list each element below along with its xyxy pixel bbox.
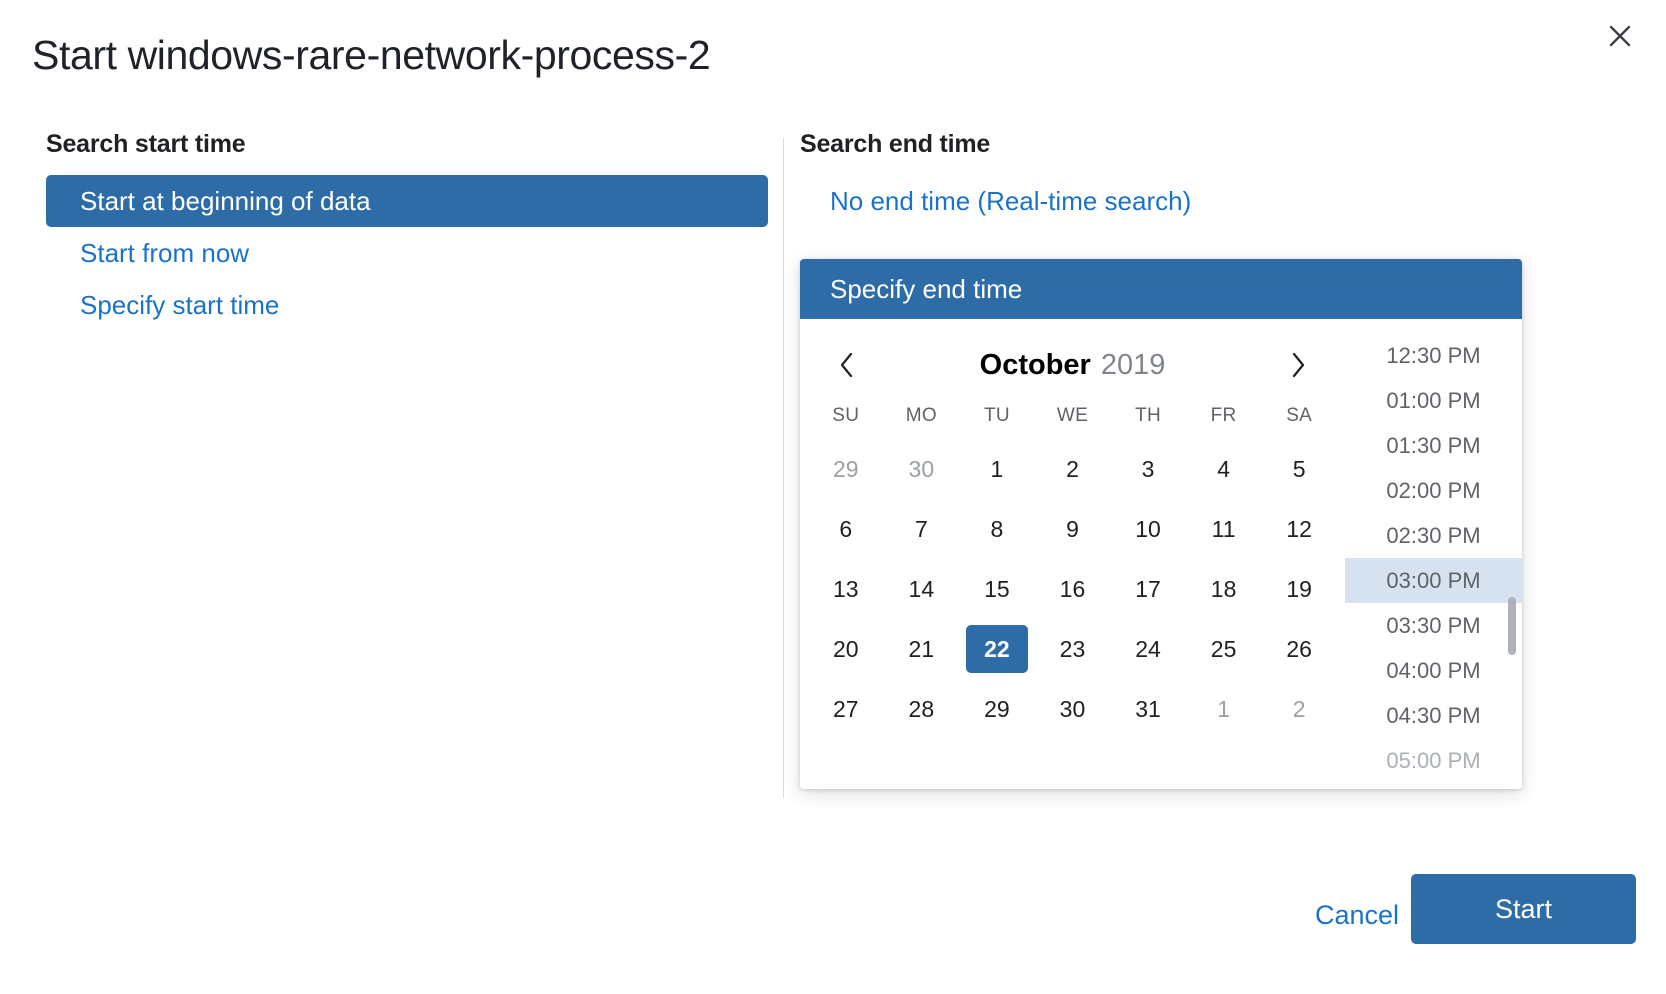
dialog-footer: Cancel Start (0, 844, 1666, 994)
calendar: October2019 SU (800, 319, 1345, 789)
calendar-nav: October2019 (808, 337, 1337, 393)
calendar-day: 9 (1041, 505, 1103, 553)
calendar-day-cell[interactable]: 21 (884, 619, 960, 679)
column-divider (783, 138, 784, 798)
calendar-day: 29 (966, 685, 1028, 733)
calendar-day: 6 (815, 505, 877, 553)
time-option[interactable]: 03:30 PM (1345, 603, 1522, 648)
calendar-week-row: 20212223242526 (808, 619, 1337, 679)
calendar-day: 21 (890, 625, 952, 673)
time-option[interactable]: 04:00 PM (1345, 648, 1522, 693)
start-option-specify-start-time[interactable]: Specify start time (46, 279, 768, 331)
calendar-day-cell[interactable]: 27 (808, 679, 884, 739)
calendar-day: 4 (1193, 445, 1255, 493)
dialog-columns: Search start time Start at beginning of … (0, 130, 1666, 810)
calendar-day-cell[interactable]: 2 (1035, 439, 1111, 499)
calendar-day: 20 (815, 625, 877, 673)
search-start-time-panel: Search start time Start at beginning of … (46, 130, 768, 331)
search-end-time-panel: Search end time No end time (Real-time s… (800, 130, 1560, 227)
calendar-day: 14 (890, 565, 952, 613)
calendar-year: 2019 (1101, 349, 1166, 381)
calendar-month-year: October2019 (980, 349, 1166, 382)
calendar-day: 8 (966, 505, 1028, 553)
calendar-day: 16 (1041, 565, 1103, 613)
calendar-day-cell[interactable]: 6 (808, 499, 884, 559)
calendar-day: 11 (1193, 505, 1255, 553)
time-option[interactable]: 01:00 PM (1345, 378, 1522, 423)
calendar-day-cell[interactable]: 29 (959, 679, 1035, 739)
calendar-day: 29 (815, 445, 877, 493)
calendar-day-cell[interactable]: 18 (1186, 559, 1262, 619)
calendar-day-cell[interactable]: 16 (1035, 559, 1111, 619)
calendar-day-cell[interactable]: 24 (1110, 619, 1186, 679)
calendar-day-cell[interactable]: 10 (1110, 499, 1186, 559)
calendar-weekday: SU (808, 393, 884, 439)
calendar-day-cell[interactable]: 30 (884, 439, 960, 499)
calendar-day-cell[interactable]: 3 (1110, 439, 1186, 499)
calendar-day-selected: 22 (966, 625, 1028, 673)
calendar-day-cell[interactable]: 26 (1261, 619, 1337, 679)
calendar-day: 2 (1268, 685, 1330, 733)
calendar-day: 15 (966, 565, 1028, 613)
calendar-day: 23 (1041, 625, 1103, 673)
calendar-weekday: MO (884, 393, 960, 439)
cancel-button[interactable]: Cancel (1301, 892, 1413, 939)
calendar-day: 5 (1268, 445, 1330, 493)
calendar-day-cell[interactable]: 17 (1110, 559, 1186, 619)
calendar-day: 10 (1117, 505, 1179, 553)
calendar-day-cell[interactable]: 4 (1186, 439, 1262, 499)
calendar-day-cell[interactable]: 13 (808, 559, 884, 619)
calendar-day-cell[interactable]: 20 (808, 619, 884, 679)
time-option-selected[interactable]: 03:00 PM (1345, 558, 1522, 603)
calendar-day-cell[interactable]: 9 (1035, 499, 1111, 559)
end-option-label: No end time (Real-time search) (830, 186, 1191, 217)
end-option-no-end-time[interactable]: No end time (Real-time search) (800, 175, 1522, 227)
calendar-day-cell[interactable]: 7 (884, 499, 960, 559)
calendar-week-row: 13141516171819 (808, 559, 1337, 619)
time-option[interactable]: 12:30 PM (1345, 333, 1522, 378)
close-icon[interactable] (1596, 12, 1644, 60)
calendar-day: 26 (1268, 625, 1330, 673)
calendar-day: 28 (890, 685, 952, 733)
calendar-day: 27 (815, 685, 877, 733)
calendar-day-cell[interactable]: 1 (959, 439, 1035, 499)
calendar-weekday: SA (1261, 393, 1337, 439)
time-list[interactable]: 12:30 PM01:00 PM01:30 PM02:00 PM02:30 PM… (1345, 319, 1522, 789)
calendar-day-cell[interactable]: 15 (959, 559, 1035, 619)
calendar-day: 24 (1117, 625, 1179, 673)
calendar-day: 25 (1193, 625, 1255, 673)
calendar-day-cell[interactable]: 1 (1186, 679, 1262, 739)
calendar-day-cell[interactable]: 25 (1186, 619, 1262, 679)
time-option[interactable]: 05:00 PM (1345, 738, 1522, 783)
search-end-time-heading: Search end time (800, 130, 1560, 159)
calendar-day-cell[interactable]: 14 (884, 559, 960, 619)
calendar-day-cell[interactable]: 31 (1110, 679, 1186, 739)
specify-end-time-popover: Specify end time October2019 (800, 259, 1522, 789)
page-title: Start windows-rare-network-process-2 (32, 32, 710, 79)
start-option-label: Start from now (80, 238, 249, 269)
calendar-month: October (980, 349, 1091, 381)
calendar-day-cell[interactable]: 19 (1261, 559, 1337, 619)
calendar-day: 3 (1117, 445, 1179, 493)
end-option-label: Specify end time (830, 274, 1022, 305)
chevron-right-icon[interactable] (1281, 345, 1315, 385)
calendar-day: 12 (1268, 505, 1330, 553)
time-list-scrollbar[interactable] (1508, 597, 1516, 655)
calendar-day: 18 (1193, 565, 1255, 613)
start-option-from-now[interactable]: Start from now (46, 227, 768, 279)
datetime-picker: October2019 SU (800, 319, 1522, 789)
end-option-specify-end-time[interactable]: Specify end time (800, 259, 1522, 319)
time-option[interactable]: 02:00 PM (1345, 468, 1522, 513)
calendar-grid: SU MO TU WE TH FR SA 2930123456789101112… (808, 393, 1337, 739)
start-button[interactable]: Start (1411, 874, 1636, 944)
calendar-weekday-header-row: SU MO TU WE TH FR SA (808, 393, 1337, 439)
calendar-day: 31 (1117, 685, 1179, 733)
calendar-day-cell[interactable]: 2 (1261, 679, 1337, 739)
calendar-day-cell[interactable]: 8 (959, 499, 1035, 559)
calendar-week-row: 6789101112 (808, 499, 1337, 559)
time-option[interactable]: 01:30 PM (1345, 423, 1522, 468)
start-option-label: Specify start time (80, 290, 279, 321)
start-option-beginning-of-data[interactable]: Start at beginning of data (46, 175, 768, 227)
calendar-day: 7 (890, 505, 952, 553)
calendar-day-cell[interactable]: 23 (1035, 619, 1111, 679)
calendar-weekday: TU (959, 393, 1035, 439)
calendar-day-cell[interactable]: 12 (1261, 499, 1337, 559)
search-start-time-heading: Search start time (46, 130, 768, 159)
calendar-day: 2 (1041, 445, 1103, 493)
start-option-label: Start at beginning of data (80, 186, 371, 217)
calendar-day-cell[interactable]: 5 (1261, 439, 1337, 499)
calendar-weekday: WE (1035, 393, 1111, 439)
calendar-day: 1 (966, 445, 1028, 493)
calendar-day: 13 (815, 565, 877, 613)
calendar-day: 30 (890, 445, 952, 493)
calendar-day-cell[interactable]: 30 (1035, 679, 1111, 739)
calendar-week-row: 293012345 (808, 439, 1337, 499)
calendar-day: 30 (1041, 685, 1103, 733)
calendar-day-cell[interactable]: 28 (884, 679, 960, 739)
calendar-day-cell[interactable]: 22 (959, 619, 1035, 679)
time-option[interactable]: 02:30 PM (1345, 513, 1522, 558)
calendar-weekday: FR (1186, 393, 1262, 439)
calendar-day-cell[interactable]: 11 (1186, 499, 1262, 559)
calendar-day: 1 (1193, 685, 1255, 733)
calendar-day: 19 (1268, 565, 1330, 613)
chevron-left-icon[interactable] (830, 345, 864, 385)
time-range-dialog: Start windows-rare-network-process-2 Sea… (0, 0, 1666, 994)
calendar-weekday: TH (1110, 393, 1186, 439)
time-option[interactable]: 04:30 PM (1345, 693, 1522, 738)
calendar-week-row: 272829303112 (808, 679, 1337, 739)
calendar-day-cell[interactable]: 29 (808, 439, 884, 499)
calendar-day: 17 (1117, 565, 1179, 613)
